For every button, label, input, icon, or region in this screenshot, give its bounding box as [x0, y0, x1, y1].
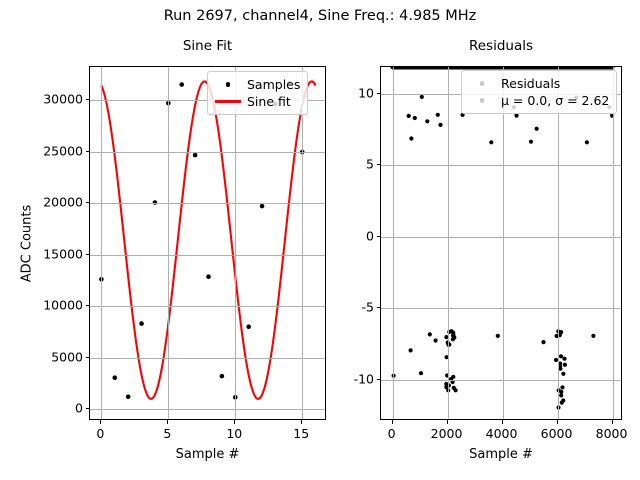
- sine-fit-axes: [89, 66, 326, 420]
- residual-point: [454, 388, 458, 392]
- y-tick-label: 5000: [11, 349, 83, 364]
- y-tick-label: 30000: [11, 91, 83, 106]
- sine-fit-ylabel: ADC Counts: [20, 67, 35, 421]
- sample-point: [246, 324, 251, 329]
- sample-point: [139, 321, 144, 326]
- residual-point: [420, 95, 424, 99]
- legend-item-samples: Samples: [213, 76, 300, 93]
- residual-point: [409, 136, 413, 140]
- x-tick-label: 10: [226, 426, 242, 441]
- y-tick-mark: [86, 202, 90, 203]
- y-tick-label: 15000: [11, 246, 83, 261]
- y-tick-label: 10000: [11, 298, 83, 313]
- y-tick-mark: [86, 151, 90, 152]
- sine-fit-xlabel: Sample #: [89, 447, 326, 462]
- sample-point: [112, 375, 117, 380]
- sample-point: [260, 204, 265, 209]
- sample-point: [220, 374, 225, 379]
- figure-suptitle: Run 2697, channel4, Sine Freq.: 4.985 MH…: [0, 8, 640, 24]
- y-tick-mark: [86, 305, 90, 306]
- samples-marker-icon: [213, 82, 243, 87]
- residual-point: [438, 123, 442, 127]
- y-tick-label: 20000: [11, 195, 83, 210]
- y-tick-mark: [86, 99, 90, 100]
- gridline-horizontal: [90, 306, 325, 307]
- residual-point: [407, 114, 411, 118]
- residuals-axes: [380, 66, 622, 420]
- sine-fit-curve: [101, 81, 315, 398]
- residual-point: [452, 336, 456, 340]
- residual-point: [434, 338, 438, 342]
- y-tick-mark: [86, 357, 90, 358]
- gridline-horizontal: [90, 409, 325, 410]
- x-tick-mark: [167, 420, 168, 424]
- sample-point: [179, 82, 184, 87]
- sample-point: [126, 394, 131, 399]
- sine-fit-title: Sine Fit: [89, 38, 326, 54]
- x-tick-label: 5: [163, 426, 171, 441]
- gridline-horizontal: [90, 203, 325, 204]
- y-tick-mark: [86, 408, 90, 409]
- figure-canvas: Run 2697, channel4, Sine Freq.: 4.985 MH…: [0, 0, 640, 480]
- gridline-horizontal: [90, 358, 325, 359]
- x-tick-label: 15: [293, 426, 309, 441]
- residual-point: [428, 332, 432, 336]
- x-tick-label: 0: [96, 426, 104, 441]
- sine-fit-plot-area: [90, 67, 326, 420]
- residual-point: [489, 140, 493, 144]
- residual-point: [496, 334, 500, 338]
- gridline-horizontal: [90, 152, 325, 153]
- residual-point: [419, 371, 423, 375]
- legend-label-sine-fit: Sine fit: [243, 94, 291, 109]
- residuals-title: Residuals: [380, 38, 622, 54]
- residuals-plot-area: [381, 67, 622, 420]
- x-tick-mark: [100, 420, 101, 424]
- gridline-vertical: [168, 67, 169, 419]
- sine-fit-legend: Samples Sine fit: [207, 71, 308, 115]
- residual-point: [413, 116, 417, 120]
- residual-point: [514, 114, 518, 118]
- gridline-vertical: [235, 67, 236, 419]
- x-tick-mark: [234, 420, 235, 424]
- y-tick-label: 25000: [11, 143, 83, 158]
- residual-point: [425, 119, 429, 123]
- legend-item-sine-fit: Sine fit: [213, 93, 300, 110]
- x-tick-mark: [301, 420, 302, 424]
- y-tick-label: 0: [11, 401, 83, 416]
- residual-point: [409, 348, 413, 352]
- sine-fit-line-icon: [213, 100, 243, 102]
- gridline-horizontal: [90, 255, 325, 256]
- residual-point: [451, 375, 455, 379]
- y-tick-mark: [86, 254, 90, 255]
- sample-point: [206, 274, 211, 279]
- sample-point: [193, 153, 198, 158]
- gridline-vertical: [101, 67, 102, 419]
- residual-point: [436, 113, 440, 117]
- legend-label-samples: Samples: [243, 77, 300, 92]
